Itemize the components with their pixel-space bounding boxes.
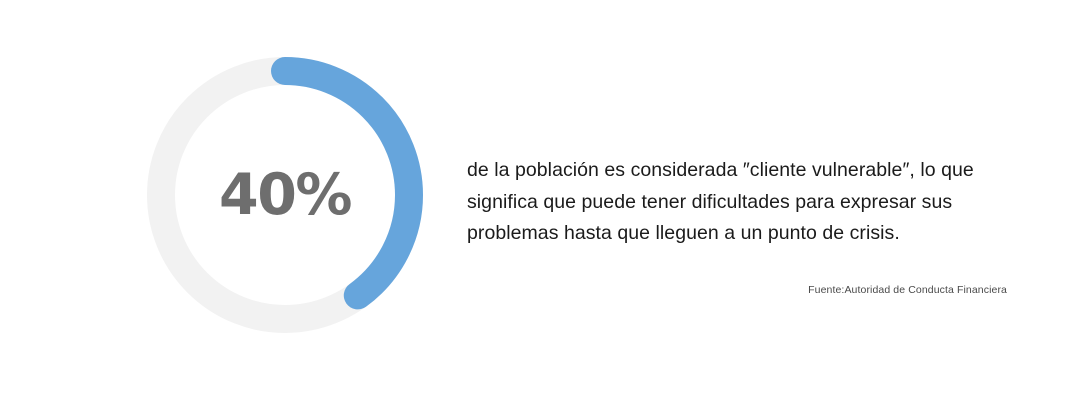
donut-chart: 40% — [147, 53, 423, 337]
statement-text: de la población es considerada ″cliente … — [467, 155, 1007, 250]
infographic-container: 40% de la población es considerada ″clie… — [0, 0, 1080, 400]
text-panel: de la población es considerada ″cliente … — [467, 155, 1012, 250]
source-credit: Fuente:Autoridad de Conducta Financiera — [467, 283, 1007, 297]
donut-chart-svg — [147, 53, 423, 337]
